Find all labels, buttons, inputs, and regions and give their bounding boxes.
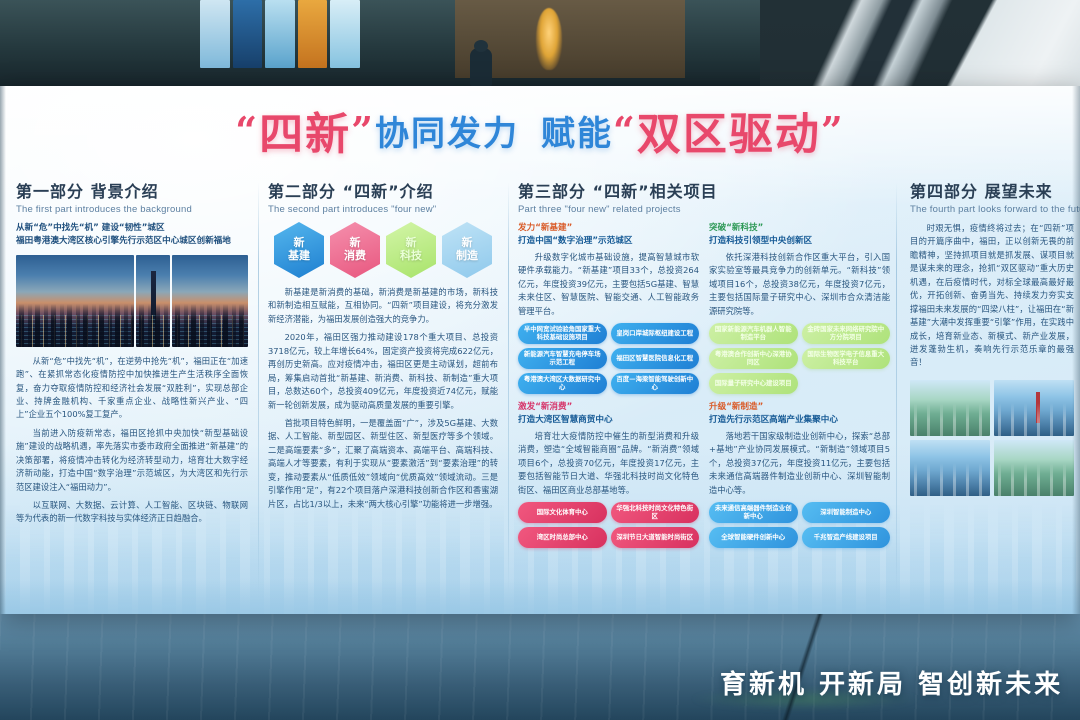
block-4-head-line-2: 打造先行示范区高端产业集聚中心 [709,414,890,427]
gold-pendant-lamp [536,8,562,70]
project-pill[interactable]: 全球智能硬件创新中心 [709,527,798,548]
headline-blue-1: 协同发力 [375,106,519,155]
section-2-paragraph-2: 2020年，福田区强力推动建设178个重大项目、总投资3718亿元，较上年增长6… [268,331,498,412]
block-3-body-wrap: 培育壮大疫情防控中催生的新型消费和升级消费，塑造“全域智能商圈”品牌。“新消费”… [518,430,699,497]
section-1-paragraph-2: 当前进入防疫新常态，福田区抢抓中央加快“新型基础设施”建设的战略机遇，率先落实市… [16,427,248,494]
headline-blue-2: 赋能 [519,106,613,155]
project-pill[interactable]: 国际生物医学电子信息重大科技平台 [802,348,891,369]
section-2: 第二部分 “四新”介绍 The second part introduces "… [258,178,508,598]
section-3-title-en: Part three "four new" related projects [518,204,890,215]
project-pill[interactable]: 国际量子研究中心建设项目 [709,373,798,394]
section-1-title: 第一部分 背景介绍 [16,178,248,202]
section-3-left-column: 发力“新基建” 打造中国“数字治理”示范城区 升级数字化城市基础设施，提高智慧城… [518,222,699,555]
photo-futian-cityscape-2 [994,380,1074,436]
block-2-body: 依托深港科技创新合作区重大平台，引入国家实验室等最具竞争力的创新单元。“新科技”… [709,251,890,318]
photo-futian-cityscape-3 [910,440,990,496]
section-4-title-en: The fourth part looks forward to the fut… [910,204,1074,215]
section-3: 第三部分 “四新”相关项目 Part three "four new" rela… [508,178,900,598]
board-headline: “四新”协同发力赋能“双区驱动” [0,98,1080,162]
block-1-body-wrap: 升级数字化城市基础设施，提高智慧城市软硬件承载能力。“新基建”项目33个，总投资… [518,251,699,318]
project-pill[interactable]: 湾区时尚总部中心 [518,527,607,548]
photo-shenzhen-tower [136,255,170,347]
project-pill[interactable]: 未来通信高端器件制造业创新中心 [709,502,798,523]
exhibition-board: “四新”协同发力赋能“双区驱动” 第一部分 背景介绍 The first par… [0,86,1080,614]
block-new-consumption-heading: 激发“新消费” 打造大湾区智慧商贸中心 [518,401,699,427]
hexagon-3-line-2: 科技 [400,250,422,263]
section-3-title: 第三部分 “四新”相关项目 [518,178,890,202]
block-4-body-wrap: 落地若干国家级制造业创新中心，探索“总部+基地”产业协同发展模式。“新制造”领域… [709,430,890,497]
block-1-body: 升级数字化城市基础设施，提高智慧城市软硬件承载能力。“新基建”项目33个，总投资… [518,251,699,318]
block-3-project-pills: 国际文化体育中心 华强北科技时尚文化特色街区 湾区时尚总部中心 深圳节日大道智能… [518,502,699,548]
project-pill[interactable]: 福田区智慧医院信息化工程 [611,348,700,369]
block-1-project-pills: 半中网宽试验验角国家重大科技基础设施项目 皇岗口岸城际枢纽建设工程 新能源汽车智… [518,323,699,394]
block-3-head-line-2: 打造大湾区智慧商贸中心 [518,414,699,427]
section-4-title: 第四部分 展望未来 [910,178,1074,202]
photo-shenzhen-skyline-night [172,255,248,347]
hexagon-1-line-2: 基建 [288,250,310,263]
hexagon-new-consumption: 新消费 [330,222,380,278]
photo-futian-cityscape-1 [910,380,990,436]
board-right-edge [1072,86,1080,614]
project-pill[interactable]: 百度—海梁智能驾驶创新中心 [611,373,700,394]
project-pill[interactable]: 千兆智造产线建设项目 [802,527,891,548]
block-3-head-line-1: 激发“新消费” [518,401,699,414]
block-4-body: 落地若干国家级制造业创新中心，探索“总部+基地”产业协同发展模式。“新制造”领域… [709,430,890,497]
block-2-body-wrap: 依托深港科技创新合作区重大平台，引入国家实验室等最具竞争力的创新单元。“新科技”… [709,251,890,318]
block-2-head-line-2: 打造科技引领型中央创新区 [709,235,890,248]
hexagon-new-infrastructure: 新基建 [274,222,324,278]
bottom-slogan: 育新机 开新局 智创新未来 [720,664,1080,708]
section-4-photo-row-2 [910,440,1074,496]
project-pill[interactable]: 深圳节日大道智能时尚街区 [611,527,700,548]
project-pill[interactable]: 华强北科技时尚文化特色街区 [611,502,700,523]
section-1-lead-line-1: 从新“危”中找先“机” 建设“韧性”城区 [16,222,248,235]
hexagon-4-line-2: 制造 [456,250,478,263]
section-3-grid: 发力“新基建” 打造中国“数字治理”示范城区 升级数字化城市基础设施，提高智慧城… [518,222,890,555]
headline-quote-close-2: ” [821,108,845,153]
section-3-right-column: 突破“新科技” 打造科技引领型中央创新区 依托深港科技创新合作区重大平台，引入国… [709,222,890,555]
project-pill[interactable]: 金砖国家未来网络研究院中方分院项目 [802,323,891,344]
project-pill[interactable]: 新能源汽车智慧充电停车场示范工程 [518,348,607,369]
block-2-head-line-1: 突破“新科技” [709,222,890,235]
photo-shenzhen-skyline-dusk [16,255,134,347]
project-pill[interactable]: 国际文化体育中心 [518,502,607,523]
hexagon-new-manufacturing: 新制造 [442,222,492,278]
section-1-paragraph-1: 从新“危”中找先“机”，在逆势中抢先“机”，福田正在“加速跑”、在紧抓常态化疫情… [16,355,248,422]
hexagon-2-line-2: 消费 [344,250,366,263]
project-pill[interactable]: 皇岗口岸城际枢纽建设工程 [611,323,700,344]
hexagon-new-technology: 新科技 [386,222,436,278]
block-new-infrastructure-heading: 发力“新基建” 打造中国“数字治理”示范城区 [518,222,699,248]
block-4-project-pills: 未来通信高端器件制造业创新中心 深圳智能制造中心 全球智能硬件创新中心 千兆智造… [709,502,890,548]
four-new-hexagons: 新基建 新消费 新科技 新制造 [268,222,498,278]
section-4-photo-row-1 [910,380,1074,436]
section-2-paragraph-3: 首批项目特色鲜明，一是覆盖面“广”，涉及5G基建、大数据、人工智能、新型园区、新… [268,417,498,511]
project-pill[interactable]: 粤港澳大湾区大数据研究中心 [518,373,607,394]
block-new-technology-heading: 突破“新科技” 打造科技引领型中央创新区 [709,222,890,248]
section-2-title: 第二部分 “四新”介绍 [268,178,498,202]
section-1-body: 从新“危”中找先“机”，在逆势中抢先“机”，福田正在“加速跑”、在紧抓常态化疫情… [16,355,248,526]
section-1: 第一部分 背景介绍 The first part introduces the … [0,178,258,598]
project-pill[interactable]: 半中网宽试验验角国家重大科技基础设施项目 [518,323,607,344]
section-4-photo-grid [910,380,1074,496]
headline-red-1: 四新 [259,98,351,162]
photo-futian-cityscape-4 [994,440,1074,496]
headline-quote-close-1: ” [351,108,375,153]
headline-red-2: 双区驱动 [637,98,821,162]
block-4-head-line-1: 升级“新制造” [709,401,890,414]
project-pill[interactable]: 粤港澳合作创新中心深港协同区 [709,348,798,369]
block-1-head-line-2: 打造中国“数字治理”示范城区 [518,235,699,248]
block-1-head-line-1: 发力“新基建” [518,222,699,235]
screenshot-root: “四新”协同发力赋能“双区驱动” 第一部分 背景介绍 The first par… [0,0,1080,720]
section-2-paragraph-1: 新基建是新消费的基础，新消费是新基建的市场，新科技和新制造相互赋能，互相协同。“… [268,286,498,326]
section-1-photo-strip [16,255,248,347]
section-1-paragraph-3: 以互联网、大数据、云计算、人工智能、区块链、物联网等为代表的新一代数字科技与实体… [16,499,248,526]
headline-quote-open-1: “ [235,108,259,153]
section-1-title-en: The first part introduces the background [16,204,248,215]
section-4-paragraph-1: 时艰无惧，疫情终将过去；在“四新”项目的开篇序曲中，福田，正以创新无畏的前瞻精神… [910,222,1074,370]
project-pill[interactable]: 国家新能源汽车机器人智能制造平台 [709,323,798,344]
board-left-edge [0,86,6,614]
section-4: 第四部分 展望未来 The fourth part looks forward … [900,178,1080,598]
section-4-body: 时艰无惧，疫情终将过去；在“四新”项目的开篇序曲中，福田，正以创新无畏的前瞻精神… [910,222,1074,370]
block-new-manufacturing-heading: 升级“新制造” 打造先行示范区高端产业集聚中心 [709,401,890,427]
section-1-lead-line-2: 福田粤港澳大湾区核心引擎先行示范区中心城区创新福地 [16,235,248,248]
project-pill[interactable]: 深圳智能制造中心 [802,502,891,523]
board-columns: 第一部分 背景介绍 The first part introduces the … [0,178,1080,598]
section-1-lead: 从新“危”中找先“机” 建设“韧性”城区 福田粤港澳大湾区核心引擎先行示范区中心… [16,222,248,249]
block-3-body: 培育壮大疫情防控中催生的新型消费和升级消费，塑造“全域智能商圈”品牌。“新消费”… [518,430,699,497]
headline-quote-open-2: “ [613,108,637,153]
section-2-body: 新基建是新消费的基础，新消费是新基建的市场，新科技和新制造相互赋能，互相协同。“… [268,286,498,511]
block-2-project-pills: 国家新能源汽车机器人智能制造平台 金砖国家未来网络研究院中方分院项目 粤港澳合作… [709,323,890,394]
shop-posters [200,0,360,68]
section-2-title-en: The second part introduces "four new" [268,204,498,215]
